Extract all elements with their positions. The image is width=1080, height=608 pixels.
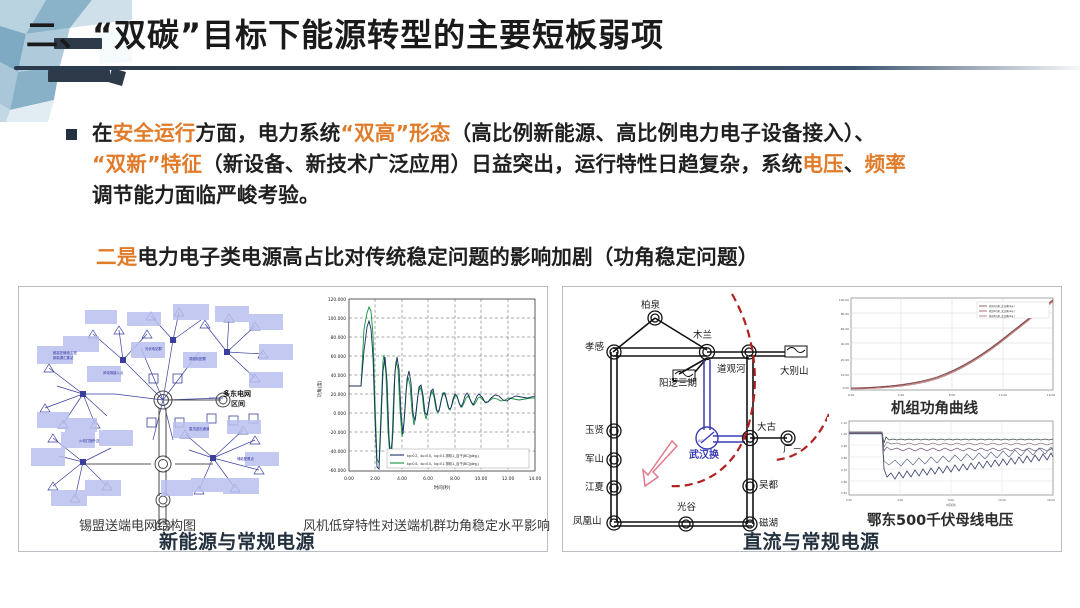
svg-text:-20.000: -20.000 <box>329 430 346 436</box>
svg-text:大别山: 大别山 <box>780 365 809 377</box>
chart-edong-bus-voltage: 1.101.00 0.900.80 0.700.60 0.50 0.004.00… <box>827 417 1059 509</box>
sub-heading-text: 电力电子类电源高占比对传统稳定问题的影响加剧（功角稳定问题） <box>137 245 758 269</box>
svg-text:机组2功角_武汉换(deg.): 机组2功角_武汉换(deg.) <box>989 309 1015 313</box>
para-text-6: 调节能力面临严峻考验。 <box>92 183 320 207</box>
svg-text:区间: 区间 <box>231 399 245 408</box>
para-highlight-frequency: 频率 <box>865 152 906 176</box>
chart-generator-power-angle-caption: 机组功角曲线 <box>891 397 978 418</box>
svg-text:0.90: 0.90 <box>841 444 847 448</box>
svg-text:超高压输电工程: 超高压输电工程 <box>53 350 77 355</box>
svg-text:10.00: 10.00 <box>475 476 488 482</box>
svg-text:0.60: 0.60 <box>841 480 847 484</box>
grid-one-line-diagram-hubei: AC 柏泉木兰 孝感道观河 大别山阳逻三期 玉贤大古 军山广－ 江夏吴都 光谷凤… <box>567 290 829 535</box>
svg-text:直流送出通道: 直流送出通道 <box>189 426 210 431</box>
svg-text:8.00: 8.00 <box>450 476 460 482</box>
svg-text:柏泉: 柏泉 <box>641 299 661 311</box>
svg-text:火电打捆外送: 火电打捆外送 <box>79 438 100 443</box>
svg-text:军山: 军山 <box>585 454 604 465</box>
svg-text:80.000: 80.000 <box>331 335 347 341</box>
svg-text:光谷: 光谷 <box>677 501 697 513</box>
right-panel-main-caption: 直流与常规电源 <box>743 527 880 554</box>
chart-power-angle-oscillation: 120.000100.000 80.00060.000 40.00020.000… <box>309 291 545 513</box>
svg-text:kp=0.2、ku=0.5、kq=0.1 排机1_百千(BC: kp=0.2、ku=0.5、kq=0.1 排机1_百千(BC)(deg.) <box>407 453 479 458</box>
svg-text:80.00: 80.00 <box>841 312 849 316</box>
svg-text:12.00: 12.00 <box>502 476 515 482</box>
svg-text:阳逻三期: 阳逻三期 <box>659 378 697 389</box>
para-highlight-voltage: 电压 <box>802 152 843 176</box>
svg-text:40.000: 40.000 <box>331 373 347 379</box>
svg-text:1.10: 1.10 <box>841 421 847 425</box>
svg-text:100.00: 100.00 <box>839 298 849 302</box>
slide-root: 二、“双碳”目标下能源转型的主要短板弱项 在安全运行方面，电力系统“双高”形态（… <box>0 0 1080 608</box>
svg-text:机组3功角_武汉换(deg.): 机组3功角_武汉换(deg.) <box>989 314 1015 318</box>
svg-text:玉贤: 玉贤 <box>585 425 605 436</box>
svg-text:8.00: 8.00 <box>948 498 954 502</box>
svg-text:2.00: 2.00 <box>370 476 380 482</box>
svg-text:调相机配置: 调相机配置 <box>189 356 207 361</box>
page-title: 二、“双碳”目标下能源转型的主要短板弱项 <box>26 10 664 56</box>
svg-text:AC: AC <box>698 438 704 443</box>
svg-text:0.00: 0.00 <box>344 476 354 482</box>
svg-text:0.70: 0.70 <box>841 468 847 472</box>
waveform-caption: 风机低穿特性对送端机群功角稳定水平影响 <box>303 515 550 534</box>
title-divider <box>14 66 1080 70</box>
svg-text:16.00: 16.00 <box>1047 393 1055 397</box>
svg-text:风电场接入点: 风电场接入点 <box>103 370 124 375</box>
chart-generator-power-angle: 100.0080.00 60.0040.00 20.0010.00 0.00 0… <box>827 292 1059 400</box>
left-panel-main-caption: 新能源与常规电源 <box>159 527 315 554</box>
svg-text:江夏: 江夏 <box>585 482 605 493</box>
converter-label: 武汉换 <box>689 448 720 461</box>
svg-text:功角(度): 功角(度) <box>316 380 323 397</box>
para-text-4: （新设备、新技术广泛应用）日益突出，运行特性日趋复杂，系统 <box>202 152 802 176</box>
svg-text:储能配置点: 储能配置点 <box>237 456 255 461</box>
svg-text:多东电网: 多东电网 <box>223 389 251 398</box>
para-highlight-double-high: “双高”形态 <box>340 121 450 145</box>
svg-text:0.000: 0.000 <box>333 411 346 417</box>
svg-text:道观河: 道观河 <box>717 363 746 375</box>
svg-text:时间(秒): 时间(秒) <box>434 484 451 491</box>
svg-text:60.00: 60.00 <box>841 327 849 331</box>
svg-text:凤凰山: 凤凰山 <box>573 516 602 527</box>
svg-text:16.00: 16.00 <box>1047 498 1055 502</box>
para-text-3: （高比例新能源、高比例电力电子设备接入）、 <box>451 121 875 145</box>
svg-text:-40.000: -40.000 <box>329 449 346 455</box>
svg-text:12.00: 12.00 <box>998 498 1006 502</box>
svg-text:14.00: 14.00 <box>529 476 542 482</box>
svg-text:0.50: 0.50 <box>841 491 847 495</box>
figure-panel-left: 超高压输电工程新能源汇集站 风电场接入点光伏电站群 调相机配置火电打捆外送 直流… <box>18 286 548 552</box>
svg-text:光伏电站群: 光伏电站群 <box>145 346 163 351</box>
svg-text:kp=0.5、ku=0.5、kq=0.1 排机1_百千(BC: kp=0.5、ku=0.5、kq=0.1 排机1_百千(BC)(deg.) <box>407 461 479 466</box>
svg-text:0.00: 0.00 <box>846 498 852 502</box>
para-highlight-double-new: “双新”特征 <box>92 152 202 176</box>
square-bullet-icon <box>66 129 77 140</box>
topology-diagram-xilinmeng: 超高压输电工程新能源汇集站 风电场接入点光伏电站群 调相机配置火电打捆外送 直流… <box>23 290 301 530</box>
svg-text:吴都: 吴都 <box>759 480 779 491</box>
svg-text:12.00: 12.00 <box>999 393 1007 397</box>
svg-text:60.000: 60.000 <box>331 354 347 360</box>
svg-text:100.000: 100.000 <box>328 316 346 322</box>
para-text-5: 、 <box>844 152 865 176</box>
svg-text:0.80: 0.80 <box>841 456 847 460</box>
svg-text:机组1功角_武汉换(deg.): 机组1功角_武汉换(deg.) <box>989 304 1015 308</box>
svg-text:-60.000: -60.000 <box>329 468 346 474</box>
chart-edong-bus-voltage-caption: 鄂东500千伏母线电压 <box>867 509 1013 530</box>
svg-text:新能源汇集站: 新能源汇集站 <box>53 355 74 360</box>
svg-text:1.00: 1.00 <box>841 432 847 436</box>
svg-text:广－: 广－ <box>783 443 802 455</box>
svg-text:6.00: 6.00 <box>423 476 433 482</box>
svg-text:4.00: 4.00 <box>397 476 407 482</box>
para-highlight-safe-operation: 安全运行 <box>113 121 196 145</box>
body-paragraph: 在安全运行方面，电力系统“双高”形态（高比例新能源、高比例电力电子设备接入）、 … <box>92 118 1066 211</box>
svg-text:10.00: 10.00 <box>841 373 849 377</box>
figure-panel-right: AC 柏泉木兰 孝感道观河 大别山阳逻三期 玉贤大古 军山广－ 江夏吴都 光谷凤… <box>562 286 1062 552</box>
svg-text:木兰: 木兰 <box>693 329 712 341</box>
svg-text:时间(秒): 时间(秒) <box>946 503 956 507</box>
svg-text:大古: 大古 <box>757 421 777 433</box>
svg-text:0.00: 0.00 <box>843 386 850 390</box>
svg-text:120.000: 120.000 <box>328 297 346 303</box>
svg-text:4.00: 4.00 <box>897 498 903 502</box>
svg-text:20.000: 20.000 <box>331 392 347 398</box>
svg-text:20.00: 20.00 <box>841 358 849 362</box>
slide-title-row: 二、“双碳”目标下能源转型的主要短板弱项 <box>18 8 1058 64</box>
sub-heading: 二是电力电子类电源高占比对传统稳定问题的影响加剧（功角稳定问题） <box>96 240 758 270</box>
para-text-2: 方面，电力系统 <box>196 121 341 145</box>
para-text-1: 在 <box>92 121 113 145</box>
svg-text:40.00: 40.00 <box>841 342 849 346</box>
bullet-block: 在安全运行方面，电力系统“双高”形态（高比例新能源、高比例电力电子设备接入）、 … <box>66 118 1066 211</box>
svg-text:0.00: 0.00 <box>848 393 855 397</box>
sub-heading-marker: 二是 <box>96 245 137 269</box>
svg-text:孝感: 孝感 <box>585 341 605 353</box>
